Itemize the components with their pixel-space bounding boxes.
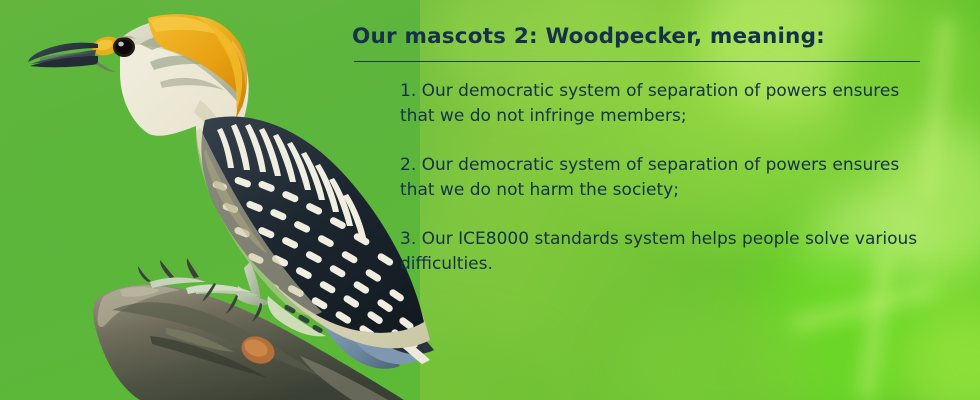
mascot-banner: Our mascots 2: Woodpecker, meaning: 1. O…: [0, 0, 980, 400]
meaning-list: 1. Our democratic system of separation o…: [352, 79, 922, 277]
title-divider: [354, 61, 920, 62]
list-item: 2. Our democratic system of separation o…: [352, 153, 920, 203]
list-item: 1. Our democratic system of separation o…: [352, 79, 920, 129]
list-item: 3. Our ICE8000 standards system helps pe…: [352, 227, 920, 277]
page-title: Our mascots 2: Woodpecker, meaning:: [352, 24, 922, 51]
text-column: Our mascots 2: Woodpecker, meaning: 1. O…: [352, 24, 922, 277]
